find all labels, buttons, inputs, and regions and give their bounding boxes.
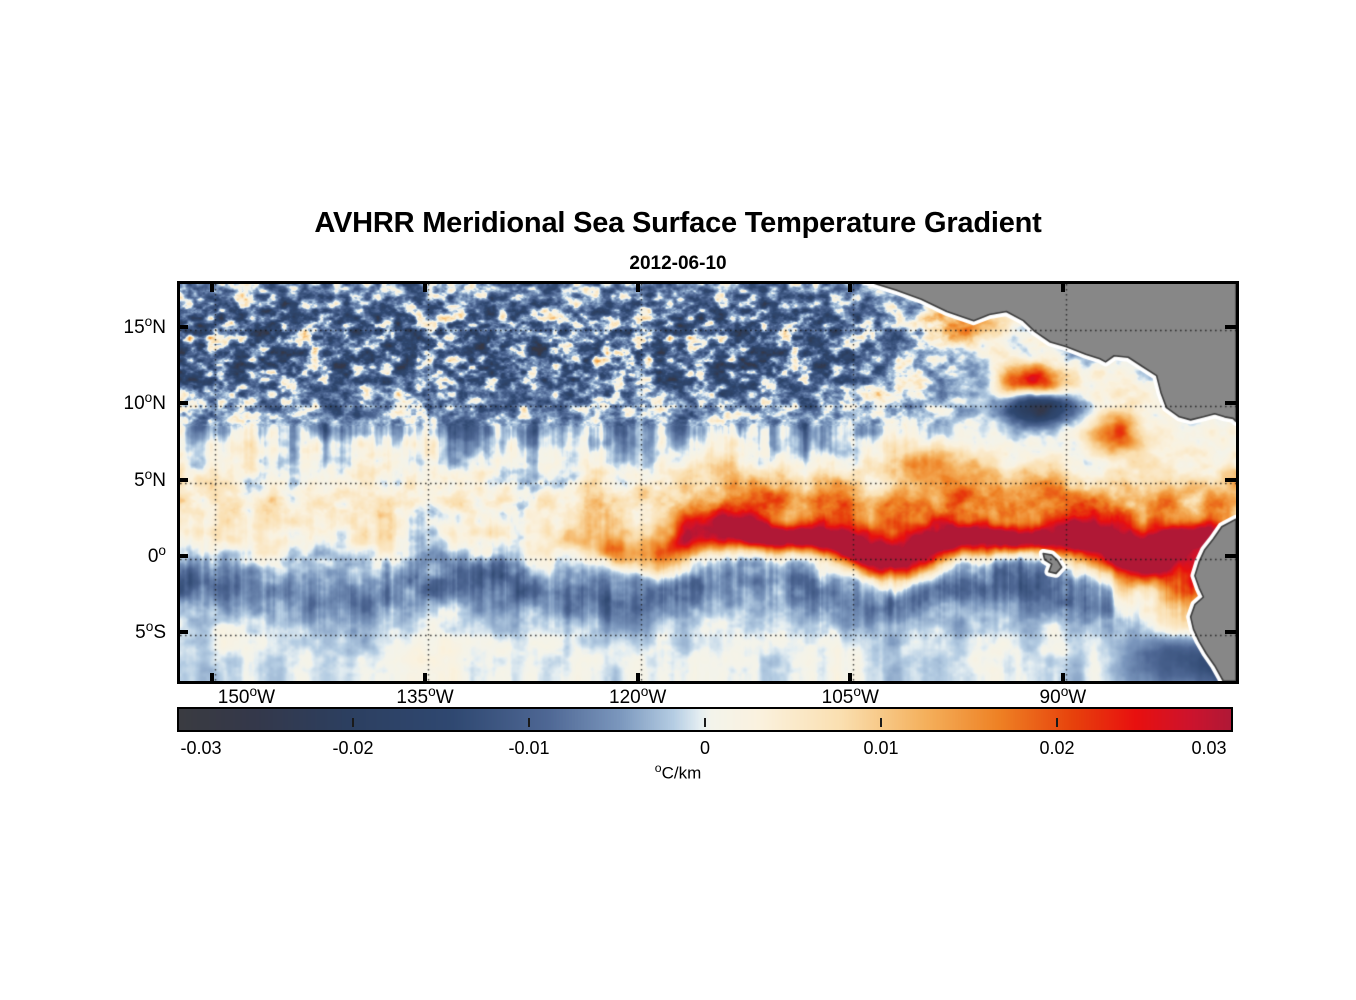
colorbar-tick-label: -0.01	[508, 738, 549, 759]
y-tick-mark-right	[1225, 554, 1236, 558]
colorbar-tick-mark	[528, 718, 530, 727]
x-tick-mark-bottom	[636, 673, 640, 684]
x-tick-mark-bottom	[848, 673, 852, 684]
colorbar-tick-label: -0.02	[332, 738, 373, 759]
x-tick-mark	[423, 281, 427, 292]
y-axis-tick-label: 15oN	[124, 314, 166, 339]
colorbar-tick-label: 0	[700, 738, 710, 759]
x-axis-tick-label: 120oW	[609, 684, 666, 709]
colorbar-tick-label: 0.01	[863, 738, 898, 759]
colorbar-tick-mark	[880, 718, 882, 727]
x-tick-mark	[210, 281, 214, 292]
x-axis-tick-label: 150oW	[218, 684, 275, 709]
map-axes[interactable]	[177, 281, 1239, 684]
x-tick-mark	[1061, 281, 1065, 292]
y-axis-tick-label: 0o	[148, 543, 166, 568]
page-title: AVHRR Meridional Sea Surface Temperature…	[0, 207, 1356, 240]
x-axis-tick-label: 135oW	[396, 684, 453, 709]
y-axis-tick-label: 5oN	[134, 467, 166, 492]
colorbar-tick-mark	[1056, 718, 1058, 727]
colorbar-tick-mark	[704, 718, 706, 727]
colorbar-tick-label: 0.02	[1039, 738, 1074, 759]
x-axis-tick-label: 105oW	[822, 684, 879, 709]
colorbar-tick-label: 0.03	[1191, 738, 1226, 759]
y-tick-mark	[177, 325, 188, 329]
y-tick-mark	[177, 554, 188, 558]
x-tick-mark	[848, 281, 852, 292]
y-axis-tick-label: 10oN	[124, 390, 166, 415]
x-tick-mark	[636, 281, 640, 292]
y-tick-mark-right	[1225, 630, 1236, 634]
colorbar-tick-label: -0.03	[180, 738, 221, 759]
y-tick-mark	[177, 478, 188, 482]
y-tick-mark-right	[1225, 325, 1236, 329]
y-axis-tick-label: 5oS	[135, 619, 166, 644]
x-tick-mark-bottom	[210, 673, 214, 684]
y-tick-mark-right	[1225, 401, 1236, 405]
x-axis-tick-label: 90oW	[1040, 684, 1087, 709]
figure-subtitle-date: 2012-06-10	[0, 253, 1356, 275]
figure-canvas: AVHRR Meridional Sea Surface Temperature…	[0, 0, 1356, 1000]
x-tick-mark-bottom	[423, 673, 427, 684]
colorbar-tick-mark	[352, 718, 354, 727]
x-tick-mark-bottom	[1061, 673, 1065, 684]
y-tick-mark-right	[1225, 478, 1236, 482]
graticule-gridlines	[180, 284, 1236, 681]
colorbar-unit-label: oC/km	[0, 761, 1356, 783]
y-tick-mark	[177, 401, 188, 405]
y-tick-mark	[177, 630, 188, 634]
